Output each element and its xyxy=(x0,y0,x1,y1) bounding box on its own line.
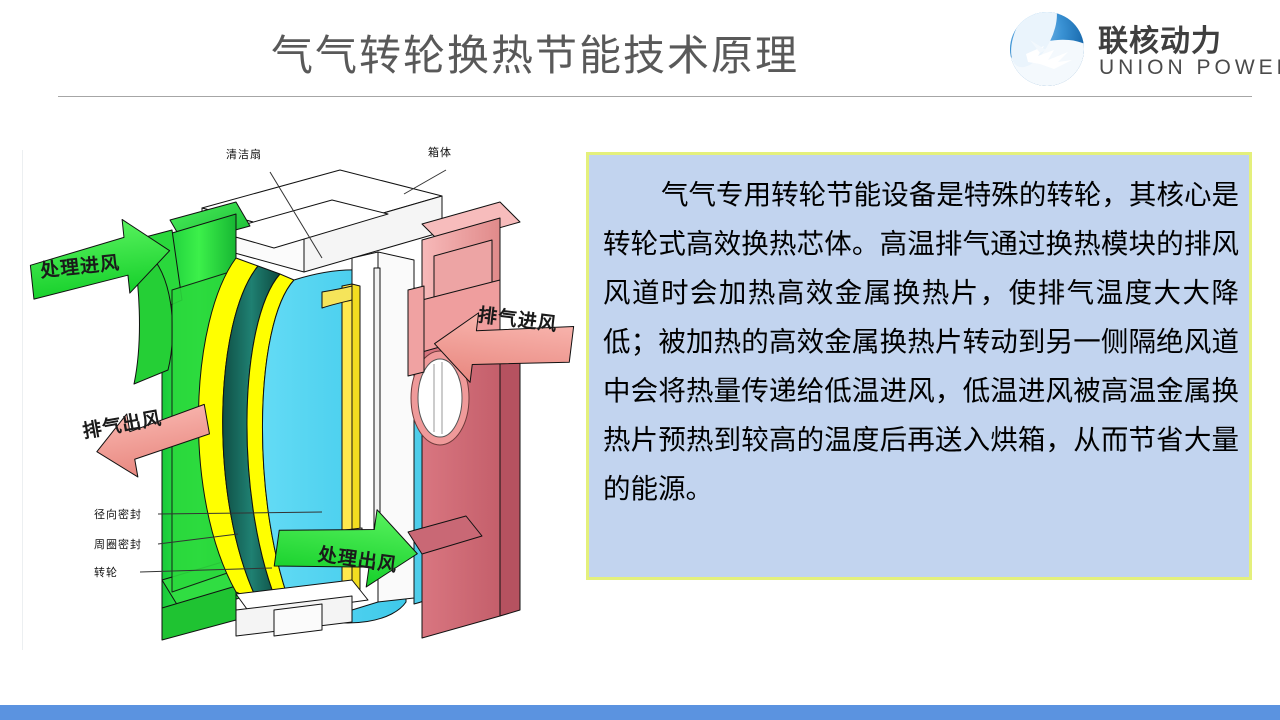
rotary-heat-exchanger-diagram: 清洁扇 箱体 径向密封 周圈密封 转轮 xyxy=(22,140,582,652)
header-divider xyxy=(58,96,1252,97)
callout-label-circumferential-seal: 周圈密封 xyxy=(94,536,142,552)
logo-english-name: UNION POWER xyxy=(1099,56,1280,80)
logo-bird-icon xyxy=(1024,36,1074,70)
red-housing xyxy=(408,202,520,638)
callout-label-radial-seal: 径向密封 xyxy=(94,506,142,522)
description-panel: 气气专用转轮节能设备是特殊的转轮，其核心是转轮式高效换热芯体。高温排气通过换热模… xyxy=(586,152,1252,580)
footer-bar xyxy=(0,705,1280,720)
company-logo: 联核动力 UNION POWER xyxy=(1010,8,1260,92)
page-header: 气气转轮换热节能技术原理 联核动力 UNION POWER xyxy=(0,0,1280,98)
logo-chinese-name: 联核动力 xyxy=(1098,16,1222,60)
union-power-sphere-logo-icon xyxy=(1010,12,1084,86)
callout-label-rotor-wheel: 转轮 xyxy=(94,564,118,580)
description-text: 气气专用转轮节能设备是特殊的转轮，其核心是转轮式高效换热芯体。高温排气通过换热模… xyxy=(603,171,1239,514)
callout-label-cleaning-fan: 清洁扇 xyxy=(226,146,262,162)
callout-label-casing: 箱体 xyxy=(428,144,452,160)
page-title: 气气转轮换热节能技术原理 xyxy=(120,22,950,83)
